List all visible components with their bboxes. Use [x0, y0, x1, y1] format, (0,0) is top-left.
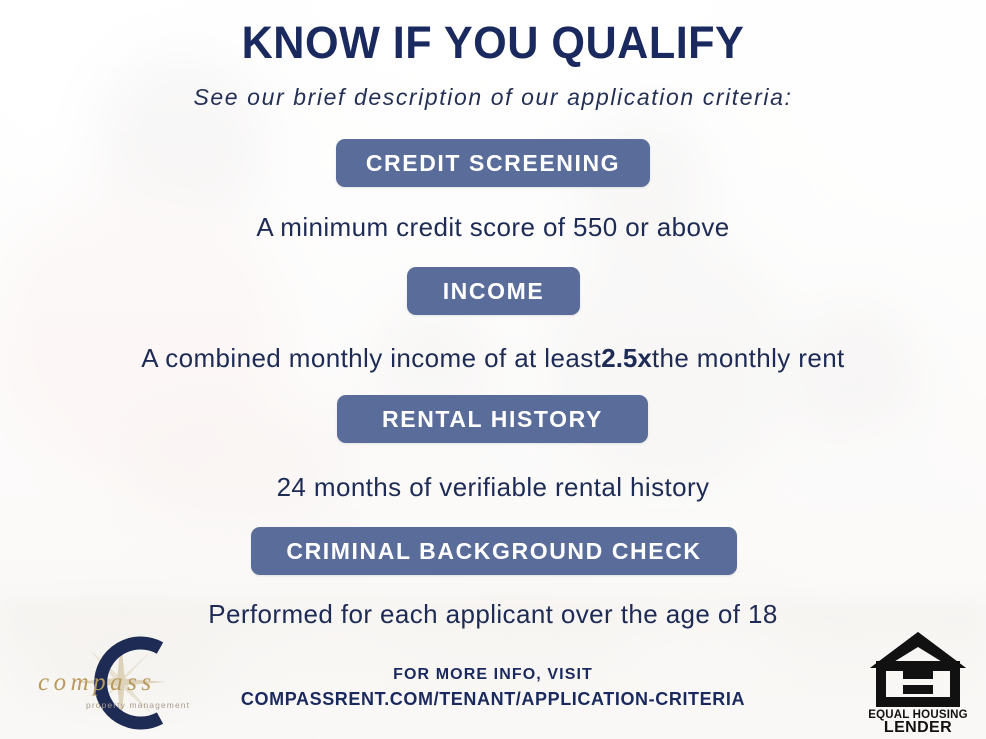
criteria-pill-credit-screening: CREDIT SCREENING: [336, 139, 650, 187]
criteria-description-criminal-background-check: Performed for each applicant over the ag…: [0, 597, 986, 631]
criteria-description-rental-history: 24 months of verifiable rental history: [0, 470, 986, 504]
income-desc-after: the monthly rent: [652, 343, 845, 373]
page-title: KNOW IF YOU QUALIFY: [20, 18, 967, 68]
compass-logo: compass property management: [28, 628, 218, 736]
compass-logo-wordmark: compass: [38, 669, 156, 696]
income-desc-before: A combined monthly income of at least: [141, 343, 601, 373]
income-desc-emphasis: 2.5x: [601, 343, 652, 373]
page-subtitle: See our brief description of our applica…: [0, 82, 986, 112]
equal-housing-lender-logo: EQUAL HOUSING LENDER: [862, 626, 974, 734]
criteria-description-credit-screening: A minimum credit score of 550 or above: [0, 210, 986, 244]
compass-logo-tagline: property management: [86, 700, 190, 710]
compass-logo-icon: compass property management: [28, 628, 218, 736]
qualification-criteria-poster: KNOW IF YOU QUALIFY See our brief descri…: [0, 0, 986, 739]
criteria-pill-income: INCOME: [407, 267, 580, 315]
ehl-line2: LENDER: [884, 719, 952, 734]
criteria-description-income: A combined monthly income of at least2.5…: [0, 341, 986, 375]
equal-housing-lender-icon: EQUAL HOUSING LENDER: [862, 626, 974, 734]
criteria-pill-criminal-background-check: CRIMINAL BACKGROUND CHECK: [251, 527, 737, 575]
criteria-pill-rental-history: RENTAL HISTORY: [337, 395, 648, 443]
